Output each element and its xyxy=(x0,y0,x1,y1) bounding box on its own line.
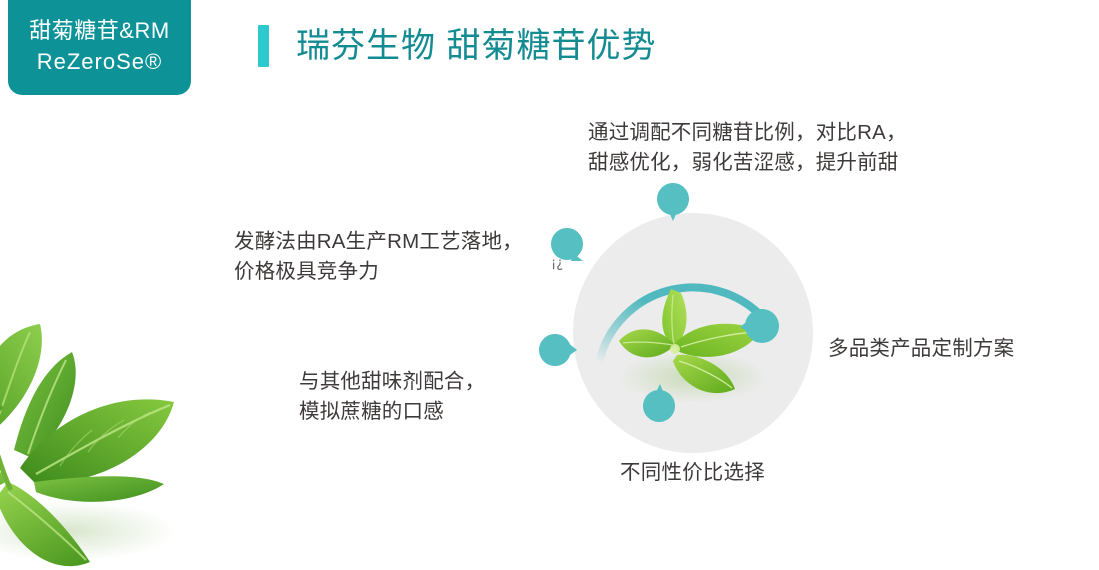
bubble-right-icon xyxy=(739,305,781,347)
callout-value-options: 不同性价比选择 xyxy=(620,458,765,488)
callout-fermentation-cost: 发酵法由RA生产RM工艺落地， 价格极具竞争力 xyxy=(234,227,523,287)
page-title-text: 瑞芬生物 甜菊糖苷优势 xyxy=(296,25,656,67)
logo-line-brand: ReZeroSe® xyxy=(37,46,162,77)
title-accent-bar xyxy=(258,25,269,67)
stevia-plant-photo xyxy=(0,296,236,570)
brand-logo-badge: 甜菊糖苷&RM ReZeroSe® xyxy=(8,0,191,95)
logo-line-product: 甜菊糖苷&RM xyxy=(29,15,169,46)
bubble-top-icon xyxy=(652,180,694,222)
bubble-upper-left-icon xyxy=(547,225,589,267)
callout-custom-solutions: 多品类产品定制方案 xyxy=(828,334,1014,364)
bubble-bottom-icon xyxy=(638,383,680,425)
callout-blend-ratio: 通过调配不同糖苷比例，对比RA， 甜感优化，弱化苦涩感，提升前甜 xyxy=(588,118,907,178)
page-title: 瑞芬生物 甜菊糖苷优势 xyxy=(258,25,656,67)
callout-sweetener-blend: 与其他甜味剂配合， 模拟蔗糖的口感 xyxy=(299,367,485,427)
bubble-lower-left-icon xyxy=(536,330,578,372)
slide-canvas: 甜菊糖苷&RM ReZeroSe® 瑞芬生物 甜菊糖苷优势 通过调配不同糖苷比例… xyxy=(0,0,1099,570)
